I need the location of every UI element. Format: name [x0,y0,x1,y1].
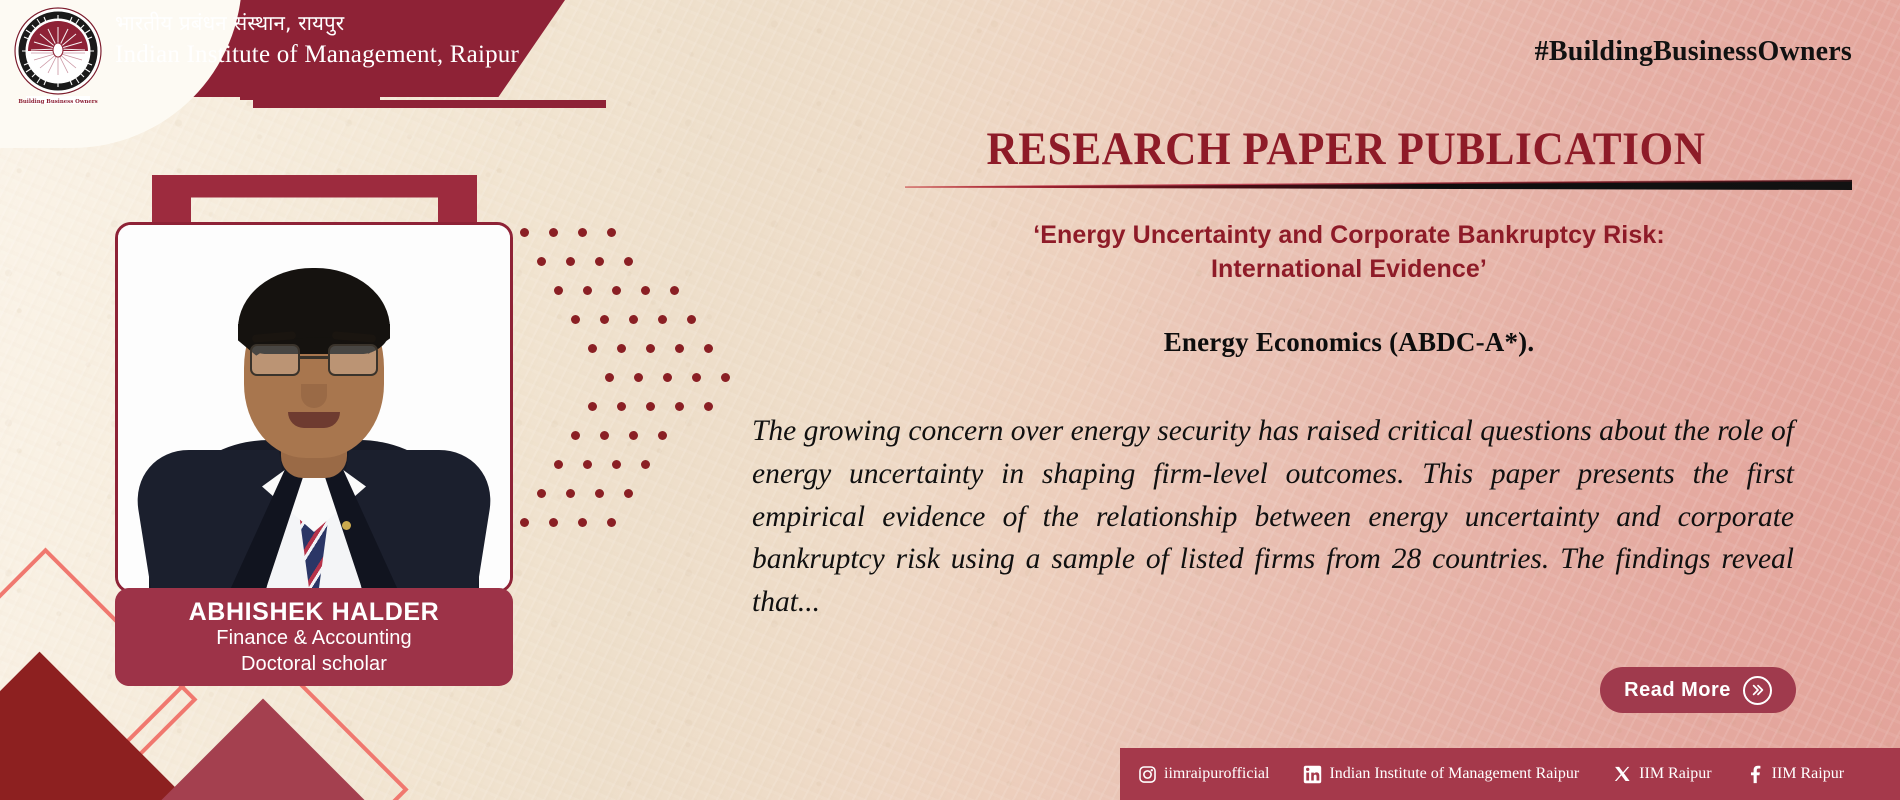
decor-dot [595,489,604,498]
x-handle: IIM Raipur [1639,765,1711,783]
decor-dot [658,431,667,440]
paper-abstract: The growing concern over energy security… [752,410,1794,624]
institute-name-hindi: भारतीय प्रबंधन संस्थान, रायपुर [115,10,519,36]
decor-dot [641,460,650,469]
decor-dot [687,315,696,324]
decor-dot [675,402,684,411]
decor-dot [600,315,609,324]
author-name: ABHISHEK HALDER [189,599,440,626]
decor-dot [520,518,529,527]
paper-title-line-1: ‘Energy Uncertainty and Corporate Bankru… [840,218,1858,252]
decor-dot [554,460,563,469]
paper-title: ‘Energy Uncertainty and Corporate Bankru… [840,218,1858,286]
decor-dot [624,489,633,498]
decor-dot [537,257,546,266]
decor-dot [578,228,587,237]
institute-name-english: Indian Institute of Management, Raipur [115,39,519,71]
author-photo [115,222,513,593]
decor-dot [658,315,667,324]
social-instagram[interactable]: iimraipurofficial [1138,765,1269,784]
decor-dot [675,344,684,353]
decor-dot [629,315,638,324]
decor-dot [721,373,730,382]
social-footer: iimraipurofficial Indian Institute of Ma… [1120,748,1900,800]
decor-dot [646,344,655,353]
svg-text:Building Business Owners: Building Business Owners [18,99,97,105]
decor-dot [600,431,609,440]
linkedin-handle: Indian Institute of Management Raipur [1329,765,1579,783]
institute-header: भारतीय प्रबंधन संस्थान, रायपुर Indian In… [115,10,519,71]
author-portrait-illustration [118,225,510,590]
decor-dot [617,344,626,353]
author-role: Doctoral scholar [241,652,387,678]
decor-dot [549,228,558,237]
decor-dot [566,257,575,266]
decor-dot [607,518,616,527]
author-name-card: ABHISHEK HALDER Finance & Accounting Doc… [115,588,513,686]
decor-dot [571,431,580,440]
social-linkedin[interactable]: Indian Institute of Management Raipur [1303,765,1579,784]
decor-dot [583,460,592,469]
decor-dot [612,460,621,469]
decor-dot [578,518,587,527]
decor-dot [629,431,638,440]
facebook-handle: IIM Raipur [1772,765,1844,783]
decor-dot [605,373,614,382]
social-facebook[interactable]: IIM Raipur [1746,765,1844,784]
decor-dot [549,518,558,527]
decor-dot [588,402,597,411]
decor-dot [646,402,655,411]
read-more-label: Read More [1624,679,1731,702]
social-x[interactable]: IIM Raipur [1613,765,1711,784]
double-chevron-right-icon [1743,676,1772,705]
x-twitter-icon [1613,765,1632,784]
read-more-button[interactable]: Read More [1600,667,1796,713]
linkedin-icon [1303,765,1322,784]
author-department: Finance & Accounting [216,626,411,652]
poster-canvas: Building Business Owners भारतीय प्रबंधन … [0,0,1900,800]
decor-dot [571,315,580,324]
decor-dot [583,286,592,295]
decor-dot [617,402,626,411]
decor-dot [624,257,633,266]
paper-title-line-2: International Evidence’ [840,252,1858,286]
decor-dot [566,489,575,498]
decor-dot [612,286,621,295]
decor-dot [554,286,563,295]
header-underbar [253,100,606,108]
decor-dot [692,373,701,382]
decor-dot [520,228,529,237]
journal-name: Energy Economics (ABDC-A*). [840,327,1858,358]
decor-dot [663,373,672,382]
iim-raipur-logo-icon: Building Business Owners [10,3,106,107]
decor-dot [588,344,597,353]
facebook-icon [1746,765,1765,784]
decor-dot [704,344,713,353]
instagram-handle: iimraipurofficial [1164,765,1269,783]
instagram-icon [1138,765,1157,784]
campaign-hashtag: #BuildingBusinessOwners [1535,36,1852,68]
decor-dot [607,228,616,237]
decor-dot [704,402,713,411]
decor-dot [641,286,650,295]
page-title: RESEARCH PAPER PUBLICATION [880,122,1811,176]
decor-dot [634,373,643,382]
decor-dot [537,489,546,498]
decor-dot [670,286,679,295]
title-divider [905,178,1852,190]
decor-dot [595,257,604,266]
